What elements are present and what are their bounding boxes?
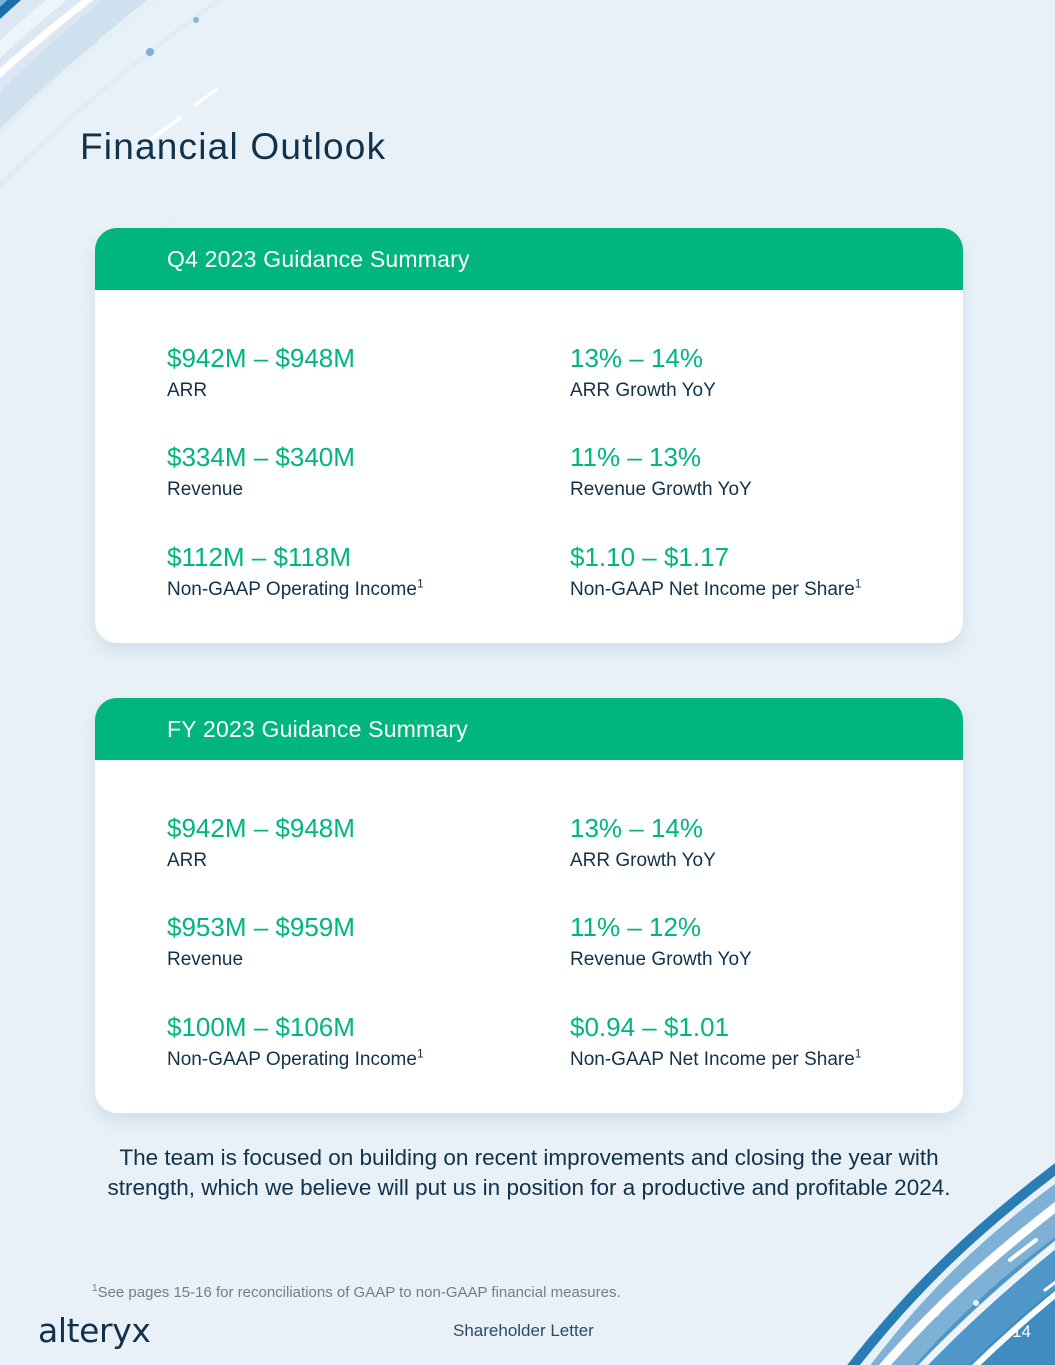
metric-label-text: Revenue (167, 949, 243, 970)
metric-label-text: Non-GAAP Net Income per Share (570, 1049, 855, 1070)
metric-value: 11% – 12% (570, 911, 963, 944)
guidance-card-q4: Q4 2023 Guidance Summary $942M – $948M A… (95, 228, 963, 643)
metric-label: Non-GAAP Net Income per Share1 (570, 577, 963, 603)
metric-label: ARR (167, 378, 570, 404)
metric-value: $100M – $106M (167, 1011, 570, 1044)
metric-arr: $942M – $948M ARR (167, 342, 570, 403)
metric-label: Non-GAAP Operating Income1 (167, 577, 570, 603)
footer-document-name: Shareholder Letter (453, 1321, 594, 1341)
metric-label: Revenue Growth YoY (570, 477, 963, 503)
metric-value: $1.10 – $1.17 (570, 541, 963, 574)
metric-revenue: $953M – $959M Revenue (167, 911, 570, 972)
metric-label: ARR (167, 848, 570, 874)
metric-arr-growth: 13% – 14% ARR Growth YoY (570, 342, 963, 403)
metric-label-text: ARR Growth YoY (570, 380, 716, 401)
metric-label-text: ARR (167, 850, 207, 871)
metric-footnote-marker: 1 (855, 1046, 862, 1060)
metric-label-text: Revenue (167, 479, 243, 500)
metric-value: $953M – $959M (167, 911, 570, 944)
card-title-fy: FY 2023 Guidance Summary (167, 716, 468, 743)
card-header-fy: FY 2023 Guidance Summary (95, 698, 963, 760)
metric-operating-income: $100M – $106M Non-GAAP Operating Income1 (167, 1011, 570, 1072)
card-body-fy: $942M – $948M ARR 13% – 14% ARR Growth Y… (95, 760, 963, 1072)
metric-grid-fy: $942M – $948M ARR 13% – 14% ARR Growth Y… (167, 812, 963, 1072)
metric-footnote-marker: 1 (417, 1046, 424, 1060)
alteryx-logo: alteryx (38, 1311, 150, 1350)
metric-label-text: ARR (167, 380, 207, 401)
card-title-q4: Q4 2023 Guidance Summary (167, 246, 470, 273)
metric-arr: $942M – $948M ARR (167, 812, 570, 873)
metric-grid-q4: $942M – $948M ARR 13% – 14% ARR Growth Y… (167, 342, 963, 602)
metric-net-income-per-share: $1.10 – $1.17 Non-GAAP Net Income per Sh… (570, 541, 963, 602)
metric-label-text: Non-GAAP Operating Income (167, 1049, 417, 1070)
metric-label: ARR Growth YoY (570, 848, 963, 874)
metric-label: Revenue Growth YoY (570, 947, 963, 973)
metric-label-text: Non-GAAP Net Income per Share (570, 579, 855, 600)
metric-value: $942M – $948M (167, 812, 570, 845)
metric-revenue-growth: 11% – 12% Revenue Growth YoY (570, 911, 963, 972)
metric-footnote-marker: 1 (855, 576, 862, 590)
metric-value: $334M – $340M (167, 441, 570, 474)
metric-label: Non-GAAP Net Income per Share1 (570, 1047, 963, 1073)
metric-revenue: $334M – $340M Revenue (167, 441, 570, 502)
closing-statement: The team is focused on building on recen… (90, 1143, 968, 1202)
card-body-q4: $942M – $948M ARR 13% – 14% ARR Growth Y… (95, 290, 963, 602)
card-header-q4: Q4 2023 Guidance Summary (95, 228, 963, 290)
metric-operating-income: $112M – $118M Non-GAAP Operating Income1 (167, 541, 570, 602)
metric-label: Revenue (167, 477, 570, 503)
metric-value: $112M – $118M (167, 541, 570, 574)
metric-label-text: ARR Growth YoY (570, 850, 716, 871)
metric-label-text: Revenue Growth YoY (570, 479, 752, 500)
metric-value: $942M – $948M (167, 342, 570, 375)
metric-label: Non-GAAP Operating Income1 (167, 1047, 570, 1073)
page-title: Financial Outlook (80, 126, 386, 168)
metric-label-text: Revenue Growth YoY (570, 949, 752, 970)
metric-footnote-marker: 1 (417, 576, 424, 590)
footnote-text: See pages 15-16 for reconciliations of G… (98, 1284, 621, 1301)
metric-arr-growth: 13% – 14% ARR Growth YoY (570, 812, 963, 873)
metric-label: ARR Growth YoY (570, 378, 963, 404)
metric-value: 13% – 14% (570, 812, 963, 845)
metric-label: Revenue (167, 947, 570, 973)
page-number: 14 (1012, 1322, 1031, 1342)
guidance-card-fy: FY 2023 Guidance Summary $942M – $948M A… (95, 698, 963, 1113)
metric-revenue-growth: 11% – 13% Revenue Growth YoY (570, 441, 963, 502)
footnote: 1See pages 15-16 for reconciliations of … (92, 1284, 621, 1301)
metric-label-text: Non-GAAP Operating Income (167, 579, 417, 600)
metric-net-income-per-share: $0.94 – $1.01 Non-GAAP Net Income per Sh… (570, 1011, 963, 1072)
metric-value: 11% – 13% (570, 441, 963, 474)
metric-value: 13% – 14% (570, 342, 963, 375)
metric-value: $0.94 – $1.01 (570, 1011, 963, 1044)
